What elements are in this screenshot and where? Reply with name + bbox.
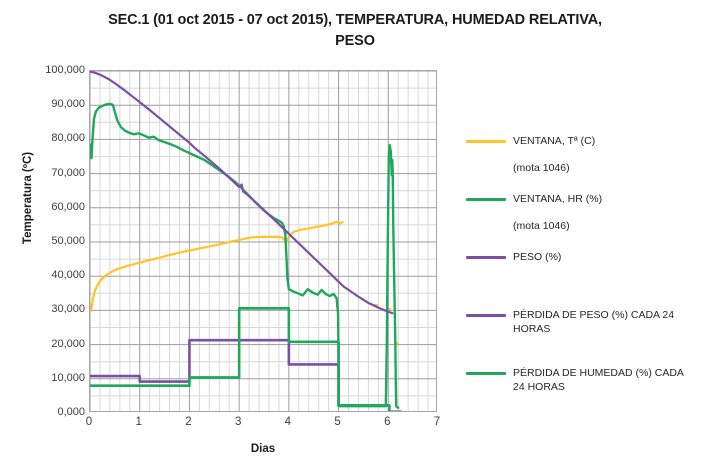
legend-item[interactable]: VENTANA, HR (%): [466, 192, 602, 206]
x-axis-tick-labels: 01234567: [89, 416, 437, 436]
legend-item-label: PÉRDIDA DE PESO (%) CADA 24 HORAS: [513, 308, 693, 336]
y-tick-label: 90,000: [11, 98, 85, 110]
legend-color-swatch: [466, 198, 506, 201]
x-tick-label: 2: [168, 416, 208, 428]
legend-item-label: PESO (%): [513, 250, 561, 264]
plot-series: [90, 71, 437, 412]
x-tick-label: 5: [318, 416, 358, 428]
y-tick-label: 30,000: [11, 303, 85, 315]
legend-item-sublabel: (mota 1046): [513, 162, 570, 174]
x-axis-title: Dias: [89, 443, 437, 455]
legend-color-swatch: [466, 140, 506, 143]
legend-color-swatch: [466, 372, 506, 375]
legend-item-label: VENTANA, HR (%): [513, 192, 602, 206]
x-tick-label: 4: [268, 416, 308, 428]
x-tick-label: 0: [69, 416, 109, 428]
chart-title-line1: SEC.1 (01 oct 2015 - 07 oct 2015), TEMPE…: [108, 12, 602, 28]
y-tick-label: 40,000: [11, 269, 85, 281]
chart-title-line2: PESO: [335, 33, 375, 49]
x-tick-label: 6: [367, 416, 407, 428]
plot-area: [89, 70, 437, 412]
legend-color-swatch: [466, 314, 506, 317]
x-tick-label: 1: [119, 416, 159, 428]
y-axis-title: Temperatura (ºC): [22, 128, 34, 268]
legend-item[interactable]: PESO (%): [466, 250, 561, 264]
legend-item[interactable]: PÉRDIDA DE PESO (%) CADA 24 HORAS: [466, 308, 693, 336]
legend-color-swatch: [466, 256, 506, 259]
y-axis-tick-labels: 0,00010,00020,00030,00040,00050,00060,00…: [7, 70, 85, 412]
legend-item[interactable]: VENTANA, Tª (C): [466, 134, 595, 148]
legend-item[interactable]: PÉRDIDA DE HUMEDAD (%) CADA 24 HORAS: [466, 366, 693, 394]
y-tick-label: 20,000: [11, 338, 85, 350]
legend-item-label: VENTANA, Tª (C): [513, 134, 595, 148]
x-tick-label: 7: [417, 416, 457, 428]
legend-item-label: PÉRDIDA DE HUMEDAD (%) CADA 24 HORAS: [513, 366, 693, 394]
x-tick-label: 3: [218, 416, 258, 428]
y-tick-label: 10,000: [11, 372, 85, 384]
y-tick-label: 100,000: [11, 64, 85, 76]
legend-item-sublabel: (mota 1046): [513, 220, 570, 232]
chart-container: SEC.1 (01 oct 2015 - 07 oct 2015), TEMPE…: [0, 0, 702, 472]
chart-title: SEC.1 (01 oct 2015 - 07 oct 2015), TEMPE…: [60, 10, 650, 52]
